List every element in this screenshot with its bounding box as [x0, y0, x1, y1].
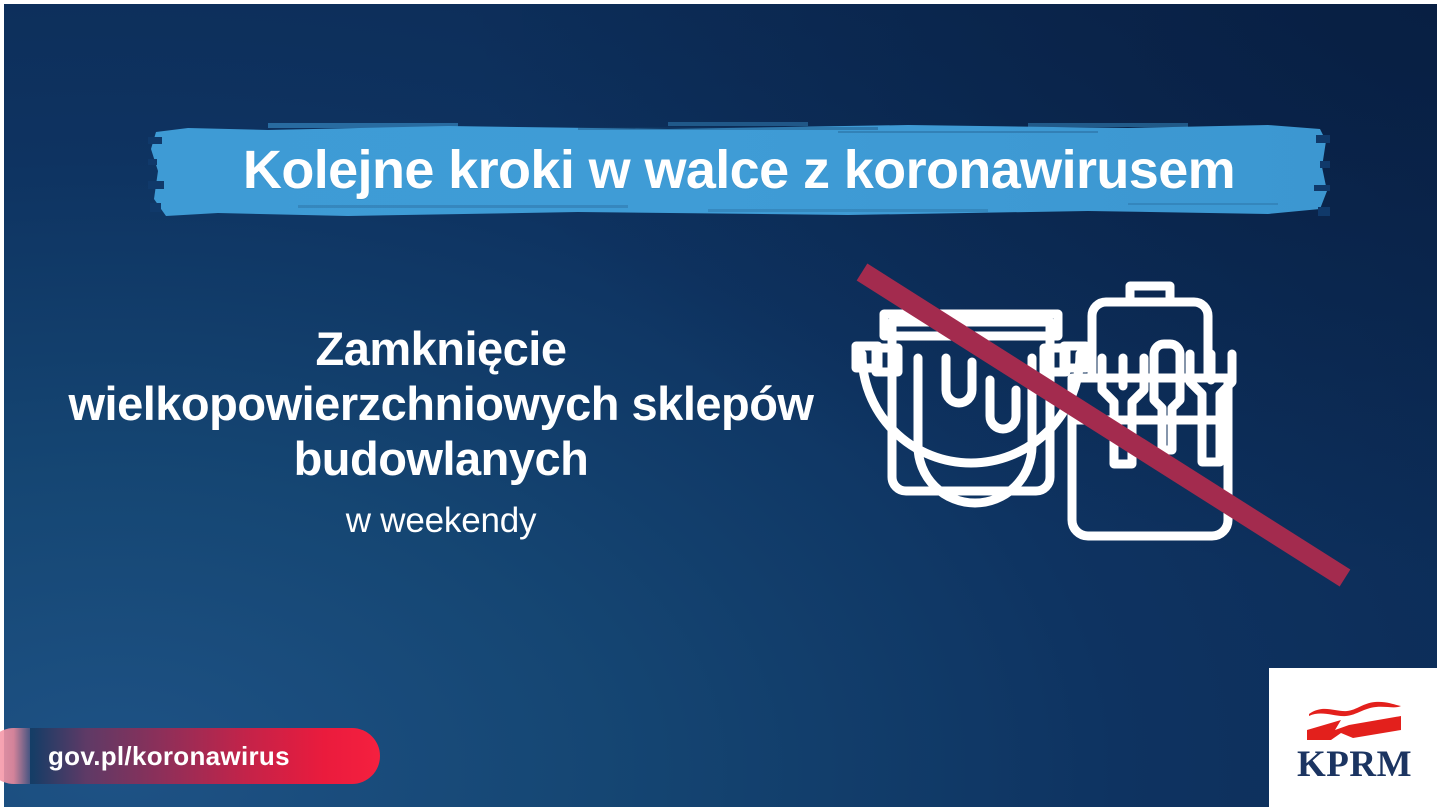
- title-banner: Kolejne kroki w walce z koronawirusem: [148, 119, 1330, 220]
- headline-primary-text: Zamknięcie wielkopowierzchniowych sklepó…: [60, 322, 822, 487]
- url-badge[interactable]: gov.pl/koronawirus: [0, 728, 380, 784]
- polish-flag-wave-icon: [1301, 700, 1409, 742]
- headline-block: Zamknięcie wielkopowierzchniowych sklepó…: [60, 322, 822, 541]
- poster-canvas: Kolejne kroki w walce z koronawirusem Za…: [0, 0, 1440, 810]
- kprm-wordmark: KPRM: [1297, 746, 1412, 783]
- headline-secondary-text: w weekendy: [60, 501, 822, 541]
- title-banner-text: Kolejne kroki w walce z koronawirusem: [148, 143, 1330, 197]
- url-badge-pill[interactable]: gov.pl/koronawirus: [30, 728, 380, 784]
- kprm-logo: KPRM: [1269, 668, 1440, 810]
- icons-svg: [840, 250, 1370, 600]
- url-badge-label: gov.pl/koronawirus: [30, 741, 290, 772]
- icon-illustration-group: [840, 250, 1370, 600]
- url-badge-glow: [0, 728, 32, 784]
